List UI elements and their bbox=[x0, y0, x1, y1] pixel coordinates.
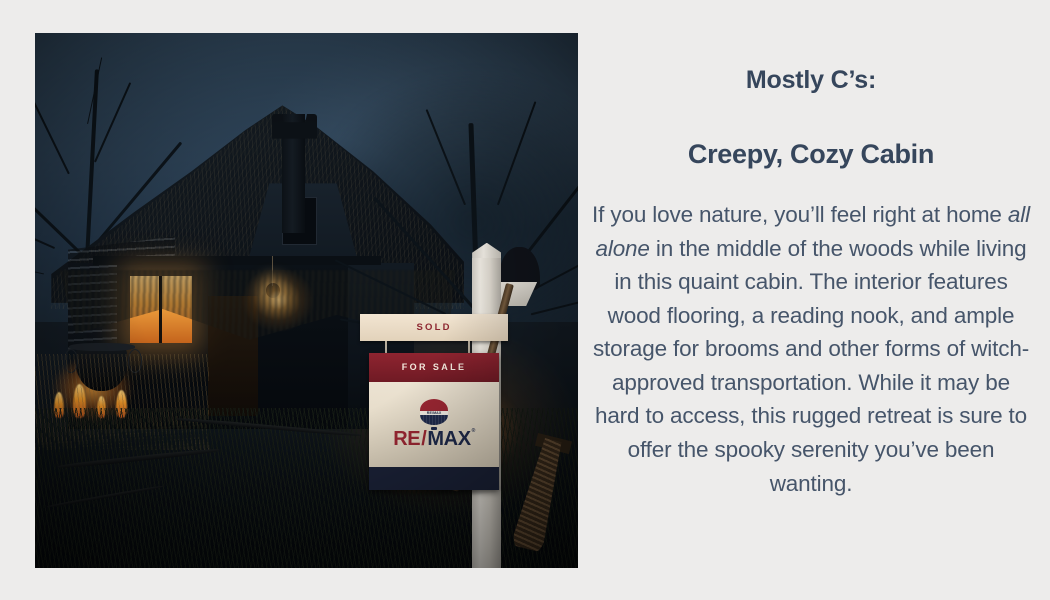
real-estate-sign: SOLD FOR SALE RE/MAX bbox=[369, 314, 499, 491]
remax-re: RE bbox=[393, 429, 420, 449]
result-headline: Creepy, Cozy Cabin bbox=[592, 138, 1030, 170]
remax-trademark: ® bbox=[472, 429, 475, 434]
result-description: If you love nature, you’ll feel right at… bbox=[592, 198, 1030, 500]
sold-label: SOLD bbox=[417, 322, 452, 333]
sold-topper: SOLD bbox=[360, 314, 509, 341]
remax-balloon-icon: RE/MAX bbox=[420, 399, 448, 428]
cauldron-rim bbox=[69, 343, 135, 352]
photo-canvas: SOLD FOR SALE RE/MAX bbox=[35, 33, 578, 568]
sign-board: FOR SALE RE/MAX RE / bbox=[369, 353, 499, 491]
sign-logo-panel: RE/MAX RE / MAX ® bbox=[369, 382, 499, 467]
sign-bottom-bar bbox=[369, 467, 499, 490]
remax-max: MAX bbox=[427, 429, 470, 449]
result-kicker: Mostly C’s: bbox=[592, 65, 1030, 95]
description-part-2: in the middle of the woods while living … bbox=[593, 236, 1029, 496]
remax-slash: / bbox=[420, 429, 427, 449]
remax-wordmark: RE / MAX ® bbox=[393, 429, 475, 449]
cabin-photo: SOLD FOR SALE RE/MAX bbox=[35, 33, 578, 568]
for-sale-banner: FOR SALE bbox=[369, 353, 499, 382]
description-part-1: If you love nature, you’ll feel right at… bbox=[592, 202, 1008, 227]
text-column: Mostly C’s: Creepy, Cozy Cabin If you lo… bbox=[592, 33, 1030, 500]
balloon-basket bbox=[431, 427, 437, 431]
result-card: SOLD FOR SALE RE/MAX bbox=[0, 0, 1050, 600]
balloon-bottom bbox=[420, 415, 448, 425]
for-sale-label: FOR SALE bbox=[402, 362, 467, 372]
